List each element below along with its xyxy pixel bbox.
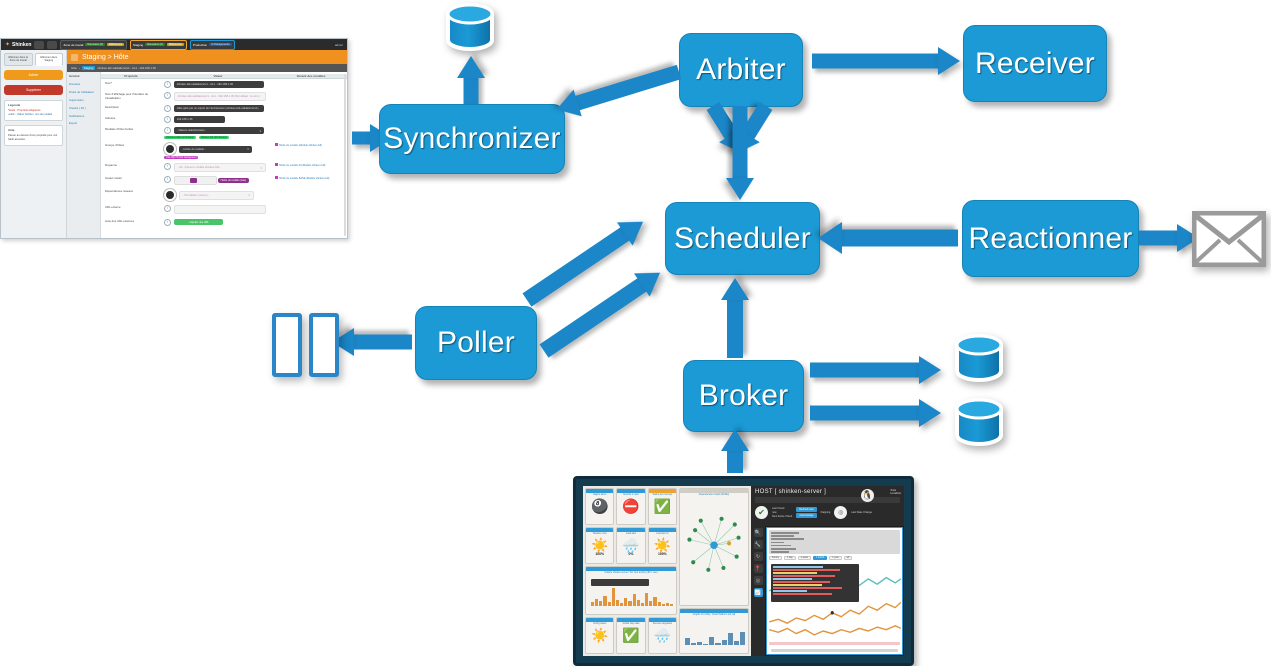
refresh-icon[interactable] bbox=[34, 41, 44, 49]
workspace-chip-diff: Différences bbox=[167, 43, 184, 46]
row-label: Nom* bbox=[101, 81, 161, 85]
form-row: Dépendances réseaux - Par défaut ( Aucun… bbox=[101, 187, 347, 203]
tools-icon[interactable]: 🔧 bbox=[754, 540, 763, 549]
form-row: Royaume i - All - (Dans le modèle shinke… bbox=[101, 161, 347, 174]
hostgroup-value: - Hérite du modèle - bbox=[182, 148, 206, 151]
row-label: Liste des URL externes bbox=[101, 219, 161, 223]
form-row: Impact métier i Hérite du modèle (bas) H… bbox=[101, 174, 347, 187]
dashboard-row: Weather now ☀️ 100% Load alert 🌧️ 0% Loa… bbox=[585, 527, 677, 564]
form-nav-notifications[interactable]: Notifications bbox=[69, 115, 98, 119]
delete-button[interactable]: Supprimer bbox=[4, 85, 63, 95]
node-receiver[interactable]: Receiver bbox=[963, 25, 1107, 102]
description-field[interactable]: Hôte géré par un export de l'architectur… bbox=[174, 105, 264, 112]
panel-title: Load alert bbox=[626, 533, 636, 535]
business-impact-slider[interactable] bbox=[174, 176, 217, 185]
next-check-label: Next Active Check bbox=[772, 515, 792, 519]
form-nav: Général Données Droits de l'utilisateur … bbox=[67, 72, 101, 238]
panel-services-degraded[interactable]: Services degraded 🌧️ bbox=[648, 617, 677, 654]
database-cylinder-icon bbox=[953, 396, 1005, 448]
localhost-label: Localhost bbox=[890, 492, 901, 495]
graph-bars bbox=[591, 585, 673, 606]
form-nav-donnees[interactable]: Données bbox=[69, 83, 98, 87]
sun-icon: ☀️ bbox=[591, 538, 608, 552]
add-url-button[interactable]: + Ajouter une URL bbox=[174, 219, 224, 225]
dashboard-column-2: Dependencies Graph (Profile) bbox=[679, 488, 749, 654]
host-icon bbox=[71, 54, 78, 61]
info-icon[interactable]: i bbox=[164, 163, 171, 170]
range-tab-1week[interactable]: 1 week bbox=[798, 556, 811, 560]
rain-icon: 🌧️ bbox=[622, 538, 639, 552]
node-label: Scheduler bbox=[674, 222, 811, 256]
chart-tooltip bbox=[771, 564, 859, 602]
info-icon[interactable]: i bbox=[164, 205, 171, 212]
breadcrumb-item: shinken-lab-validationsrv1 - AL1 - 192.1… bbox=[97, 66, 155, 70]
address-field[interactable]: 192.168.1.36 bbox=[174, 116, 225, 123]
dashboard-row: Config status ☀️ Global stay state ✅ Ser… bbox=[585, 617, 677, 654]
breadcrumb: Hôte › Staging shinken-lab-validationsrv… bbox=[67, 64, 347, 72]
range-tab-all[interactable]: all bbox=[844, 556, 852, 560]
form-nav-supervision[interactable]: Supervision bbox=[69, 99, 98, 103]
sidebar-tabs: Effectuer dans la Zone de travail Effect… bbox=[4, 53, 63, 66]
recheck-button[interactable]: Recheck now bbox=[796, 507, 816, 512]
search-icon[interactable]: 🔍 bbox=[754, 528, 763, 537]
sun-icon: ☀️ bbox=[654, 538, 671, 552]
user-menu[interactable]: admin bbox=[335, 43, 343, 47]
model-origin: Hérite du modèle (Modèle shinken-full) bbox=[279, 144, 322, 147]
tab-staging[interactable]: Effectuer dans Staging bbox=[35, 53, 64, 66]
clock-icon[interactable]: ◎ bbox=[754, 576, 763, 585]
form-nav-droits[interactable]: Droits de l'utilisateur bbox=[69, 91, 98, 95]
rain-icon: 🌧️ bbox=[654, 628, 671, 642]
monitor-screen: Nagios alerts 🎱 Network in alert ⛔ Statu… bbox=[583, 486, 904, 656]
realm-value: - All - (Dans le modèle shinken-full) - bbox=[178, 166, 221, 169]
network-deps-select[interactable]: - Par défaut ( Aucun ) -▾ bbox=[179, 191, 254, 200]
arrow-arbiter-to-synchronizer bbox=[555, 72, 679, 110]
info-icon[interactable]: i bbox=[164, 176, 171, 183]
brand-label: Shinken bbox=[12, 42, 31, 48]
panel-status-interrupt[interactable]: Status per interrupt ✅ bbox=[648, 488, 677, 525]
help-title: Aide bbox=[8, 128, 59, 132]
webui-topbar: ✦ Shinken Zone de travail Nouveaux (2) D… bbox=[1, 39, 347, 50]
row-label: Description bbox=[101, 105, 161, 109]
panel-nagios-alerts[interactable]: Nagios alerts 🎱 bbox=[585, 488, 614, 525]
node-label: Receiver bbox=[975, 47, 1095, 81]
envelope-icon bbox=[1192, 211, 1266, 272]
form-row: Nom d'affichage pour l'interface de Visu… bbox=[101, 90, 347, 103]
form-scrollbar[interactable] bbox=[344, 74, 346, 236]
spark-icon: ✦ bbox=[5, 41, 10, 48]
panel-dependencies-graph[interactable]: Dependencies Graph (Profile) bbox=[679, 488, 749, 606]
panel-network-alert[interactable]: Network in alert ⛔ bbox=[616, 488, 645, 525]
form-nav-general[interactable]: Général bbox=[69, 75, 98, 79]
error-icon: ⛔ bbox=[622, 499, 639, 513]
workspace-label: Zone de travail bbox=[63, 43, 83, 47]
ok-icon: ✅ bbox=[654, 499, 671, 513]
panel-bottom-graph[interactable]: Graphe for Utility / Cloud Platform (all… bbox=[679, 608, 749, 654]
bottom-graph-bars bbox=[685, 621, 745, 645]
save-button[interactable]: Activer bbox=[4, 70, 63, 80]
monitored-servers-icon bbox=[272, 313, 339, 377]
server-box bbox=[272, 313, 302, 377]
location-icon[interactable]: 📍 bbox=[754, 564, 763, 573]
inherit-toggle[interactable] bbox=[164, 189, 176, 201]
network-topology bbox=[680, 496, 748, 591]
range-tab-1year[interactable]: 1 year bbox=[829, 556, 841, 560]
templates-select[interactable]: - Valeurs sélectionnées -▾ bbox=[174, 127, 264, 134]
database-cylinder-icon bbox=[444, 2, 496, 52]
panel-load-alert-2[interactable]: Load alert 2 ☀️ 100% bbox=[648, 527, 677, 564]
page-title: Staging > Hôte bbox=[82, 54, 129, 61]
node-label: Broker bbox=[699, 379, 789, 413]
legend-title: Légende bbox=[8, 103, 59, 107]
node-synchronizer[interactable]: Synchronizer bbox=[379, 104, 565, 174]
host-header: HOST [ shinken-server ] 🐧 Tools Localhos… bbox=[751, 486, 904, 526]
form-row: Groupe d'hôtes - Hérite du modèle -▾ 192… bbox=[101, 141, 347, 161]
row-label: URL externe bbox=[101, 205, 161, 209]
realm-select[interactable]: - All - (Dans le modèle shinken-full) -▾ bbox=[174, 163, 266, 172]
host-body: 🔍 🔧 ↻ 📍 ◎ 📈 4ho bbox=[751, 526, 904, 656]
sun-icon: ☀️ bbox=[591, 628, 608, 642]
template-tag[interactable]: shinken-poller (2 checks) bbox=[164, 136, 196, 139]
panel-title: Services degraded bbox=[653, 623, 672, 625]
tab-zone-de-travail[interactable]: Effectuer dans la Zone de travail bbox=[4, 53, 33, 66]
host-meta: ✔ Last Check now Next Active Check Reche… bbox=[755, 506, 900, 519]
workspace-chip-changes: 0 Changements bbox=[209, 43, 231, 46]
host-form: Propriété Valeur Venant des modèles Nom*… bbox=[101, 72, 347, 238]
side-rail: 🔍 🔧 ↻ 📍 ◎ 📈 bbox=[751, 526, 765, 656]
panel-cpu-graph[interactable]: Graphe shinken-server / Per Cpu activity… bbox=[585, 566, 677, 615]
architecture-diagram: ✦ Shinken Zone de travail Nouveaux (2) D… bbox=[0, 0, 1271, 666]
column-header-value: Valeur bbox=[161, 74, 275, 78]
row-label: Dépendances réseaux bbox=[101, 189, 161, 193]
ok-icon: ✅ bbox=[622, 628, 639, 642]
node-arbiter[interactable]: Arbiter bbox=[679, 33, 803, 107]
shinken-logo: ✦ Shinken bbox=[5, 41, 31, 48]
info-icon[interactable]: i bbox=[164, 92, 171, 99]
workspace-chip-diff: Différences bbox=[107, 43, 124, 46]
home-button[interactable] bbox=[47, 41, 57, 49]
external-url-field[interactable] bbox=[174, 205, 266, 214]
workspace-label: Staging bbox=[133, 43, 143, 47]
server-box bbox=[309, 313, 339, 377]
network-deps-value: - Par défaut ( Aucun ) - bbox=[183, 194, 210, 197]
column-header-property: Propriété bbox=[101, 74, 161, 78]
template-tag[interactable]: shinken-full (19 checks) bbox=[199, 136, 229, 139]
model-origin: Hérite du modèle All (Modèle shinken-ful… bbox=[279, 164, 325, 167]
workspace-pill-0[interactable]: Zone de travail Nouveaux (2) Différences bbox=[60, 40, 127, 50]
history-icon[interactable]: ↻ bbox=[754, 552, 763, 561]
last-state-change-label: Last State Change bbox=[851, 511, 872, 515]
alert-icon: 🎱 bbox=[591, 499, 608, 513]
chart-range-scrollbar[interactable] bbox=[771, 649, 898, 652]
legend-line: *étoile : Propriété obligatoire bbox=[8, 109, 41, 112]
database-cylinder-icon bbox=[953, 332, 1005, 384]
display-name-field[interactable]: shinken-lab-validationsrv1 - AL1 - 192.1… bbox=[174, 92, 266, 101]
panel-title: Status per interrupt bbox=[653, 494, 673, 496]
help-panel: Aide Passer au dessus d'une propriété po… bbox=[4, 125, 63, 146]
dashboard-left: Nagios alerts 🎱 Network in alert ⛔ Statu… bbox=[583, 486, 751, 656]
form-nav-checks[interactable]: Checks ( 26 ) bbox=[69, 107, 98, 111]
row-label: Royaume bbox=[101, 163, 161, 167]
panel-title: Nagios alerts bbox=[593, 494, 606, 496]
workspace-chip-new: Nouveaux (2) bbox=[85, 43, 105, 46]
info-icon[interactable]: i bbox=[164, 127, 171, 134]
host-state-icon: ✔ bbox=[755, 506, 768, 519]
panel-load-alert[interactable]: Load alert 🌧️ 0% bbox=[616, 527, 645, 564]
column-header-model: Venant des modèles bbox=[275, 74, 347, 78]
form-nav-export[interactable]: Export bbox=[69, 122, 98, 126]
panel-title: Config status bbox=[593, 623, 606, 625]
shinken-dashboard-monitor-screenshot[interactable]: Nagios alerts 🎱 Network in alert ⛔ Statu… bbox=[573, 476, 914, 666]
node-label: Synchronizer bbox=[383, 122, 560, 156]
business-impact-badge: Hérite du modèle (bas) bbox=[218, 178, 249, 183]
workspace-pill-1[interactable]: Staging Nouveaux (2) Différences bbox=[130, 40, 187, 50]
info-icon[interactable]: i bbox=[164, 116, 171, 123]
shinken-webui-screenshot[interactable]: ✦ Shinken Zone de travail Nouveaux (2) D… bbox=[0, 38, 348, 239]
node-scheduler[interactable]: Scheduler bbox=[665, 202, 820, 275]
row-label: Adresse bbox=[101, 116, 161, 120]
workspace-chip-new: Nouveaux (2) bbox=[145, 43, 165, 46]
templates-select-value: - Valeurs sélectionnées - bbox=[177, 129, 206, 132]
info-icon[interactable]: i bbox=[164, 219, 171, 226]
range-tab-1month[interactable]: 1 month bbox=[813, 556, 827, 560]
flapping-gauge-icon: ◎ bbox=[834, 506, 847, 519]
range-tab-4hours[interactable]: 4hours bbox=[769, 556, 782, 560]
form-row: Adresse i 192.168.1.36 bbox=[101, 114, 347, 125]
inherit-toggle[interactable] bbox=[164, 143, 176, 155]
dashboard-column-1: Nagios alerts 🎱 Network in alert ⛔ Statu… bbox=[585, 488, 677, 654]
metric-list[interactable] bbox=[769, 530, 900, 554]
model-origin: Hérite du modèle BASE (Modèle shinken-fu… bbox=[279, 177, 329, 180]
node-broker[interactable]: Broker bbox=[683, 360, 804, 432]
node-poller[interactable]: Poller bbox=[415, 306, 537, 380]
chart-range-tabs: 4hours 1 day 1 week 1 month 1 year all bbox=[769, 556, 900, 560]
page-title-bar: Staging > Hôte bbox=[67, 50, 347, 64]
row-label: Groupe d'hôtes bbox=[101, 143, 161, 147]
hostgroup-tag[interactable]: 192.168.75.0/24 background bbox=[164, 156, 198, 159]
panel-global-state[interactable]: Global stay state ✅ bbox=[616, 617, 645, 654]
row-label: Modèles d'hôte hérités bbox=[101, 127, 161, 131]
panel-value: 100% bbox=[595, 552, 604, 556]
graph-icon[interactable]: 📈 bbox=[754, 588, 763, 597]
name-field[interactable]: shinken-lab-validationsrv1 - AL1 - 192.1… bbox=[174, 81, 264, 88]
node-label: Reactionner bbox=[969, 222, 1133, 256]
panel-title: Load alert 2 bbox=[656, 533, 668, 535]
host-title: HOST [ shinken-server ] bbox=[755, 489, 900, 495]
legend-panel: Légende *étoile : Propriété obligatoire … bbox=[4, 100, 63, 122]
chart-time-axis bbox=[769, 642, 900, 645]
webui-body: Effectuer dans la Zone de travail Effect… bbox=[1, 50, 347, 238]
info-icon[interactable]: i bbox=[164, 105, 171, 112]
panel-title: Network in alert bbox=[623, 494, 639, 496]
workspace-pill-2[interactable]: Production 0 Changements bbox=[190, 40, 235, 50]
range-tab-1day[interactable]: 1 day bbox=[784, 556, 796, 560]
dashboard-row: Nagios alerts 🎱 Network in alert ⛔ Statu… bbox=[585, 488, 677, 525]
bottom-graph-title: Graphe for Utility / Cloud Platform (all… bbox=[680, 614, 748, 616]
form-row: Modèles d'hôte hérités i - Valeurs sélec… bbox=[101, 125, 347, 141]
dashboard-right: HOST [ shinken-server ] 🐧 Tools Localhos… bbox=[751, 486, 904, 656]
webui-sidebar: Effectuer dans la Zone de travail Effect… bbox=[1, 50, 67, 238]
row-label: Nom d'affichage pour l'interface de Visu… bbox=[101, 92, 161, 100]
graph-pane: 4hours 1 day 1 week 1 month 1 year all bbox=[766, 527, 903, 655]
webui-columns: Général Données Droits de l'utilisateur … bbox=[67, 72, 347, 238]
legend-line: +italic : Valeur héritée / non du modèle bbox=[8, 113, 52, 116]
graph-title: Graphe shinken-server / Per Cpu activity… bbox=[586, 572, 676, 574]
workspace-label: Production bbox=[193, 43, 207, 47]
hostgroup-select[interactable]: - Hérite du modèle -▾ bbox=[179, 146, 252, 153]
flapping-label: Flapping bbox=[821, 511, 831, 515]
row-label: Impact métier bbox=[101, 176, 161, 180]
node-reactionner[interactable]: Reactionner bbox=[962, 200, 1139, 277]
form-row: URL externe i bbox=[101, 203, 347, 217]
panel-config-status[interactable]: Config status ☀️ bbox=[585, 617, 614, 654]
breadcrumb-item[interactable]: Hôte bbox=[71, 66, 77, 70]
host-description-field[interactable] bbox=[755, 497, 900, 503]
form-row: Liste des URL externes i + Ajouter une U… bbox=[101, 217, 347, 228]
info-icon[interactable]: i bbox=[164, 81, 171, 88]
panel-weather-now[interactable]: Weather now ☀️ 100% bbox=[585, 527, 614, 564]
panel-value: 100% bbox=[658, 552, 667, 556]
panel-title: Weather now bbox=[593, 533, 607, 535]
form-row: Description i Hôte géré par un export de… bbox=[101, 103, 347, 114]
breadcrumb-item[interactable]: Staging bbox=[82, 66, 96, 70]
form-row: Nom* i shinken-lab-validationsrv1 - AL1 … bbox=[101, 79, 347, 90]
tux-icon: 🐧 bbox=[861, 489, 874, 502]
panel-title: Global stay state bbox=[622, 623, 639, 625]
tools-label: Tools Localhost bbox=[890, 489, 901, 495]
panel-value: 0% bbox=[629, 552, 634, 556]
webui-main: Staging > Hôte Hôte › Staging shinken-la… bbox=[67, 50, 347, 238]
node-label: Arbiter bbox=[696, 53, 786, 87]
acknowledge-button[interactable]: Acknowledge bbox=[796, 513, 816, 518]
help-text: Passer au dessus d'une propriété pour vo… bbox=[8, 134, 59, 142]
node-label: Poller bbox=[437, 326, 515, 360]
